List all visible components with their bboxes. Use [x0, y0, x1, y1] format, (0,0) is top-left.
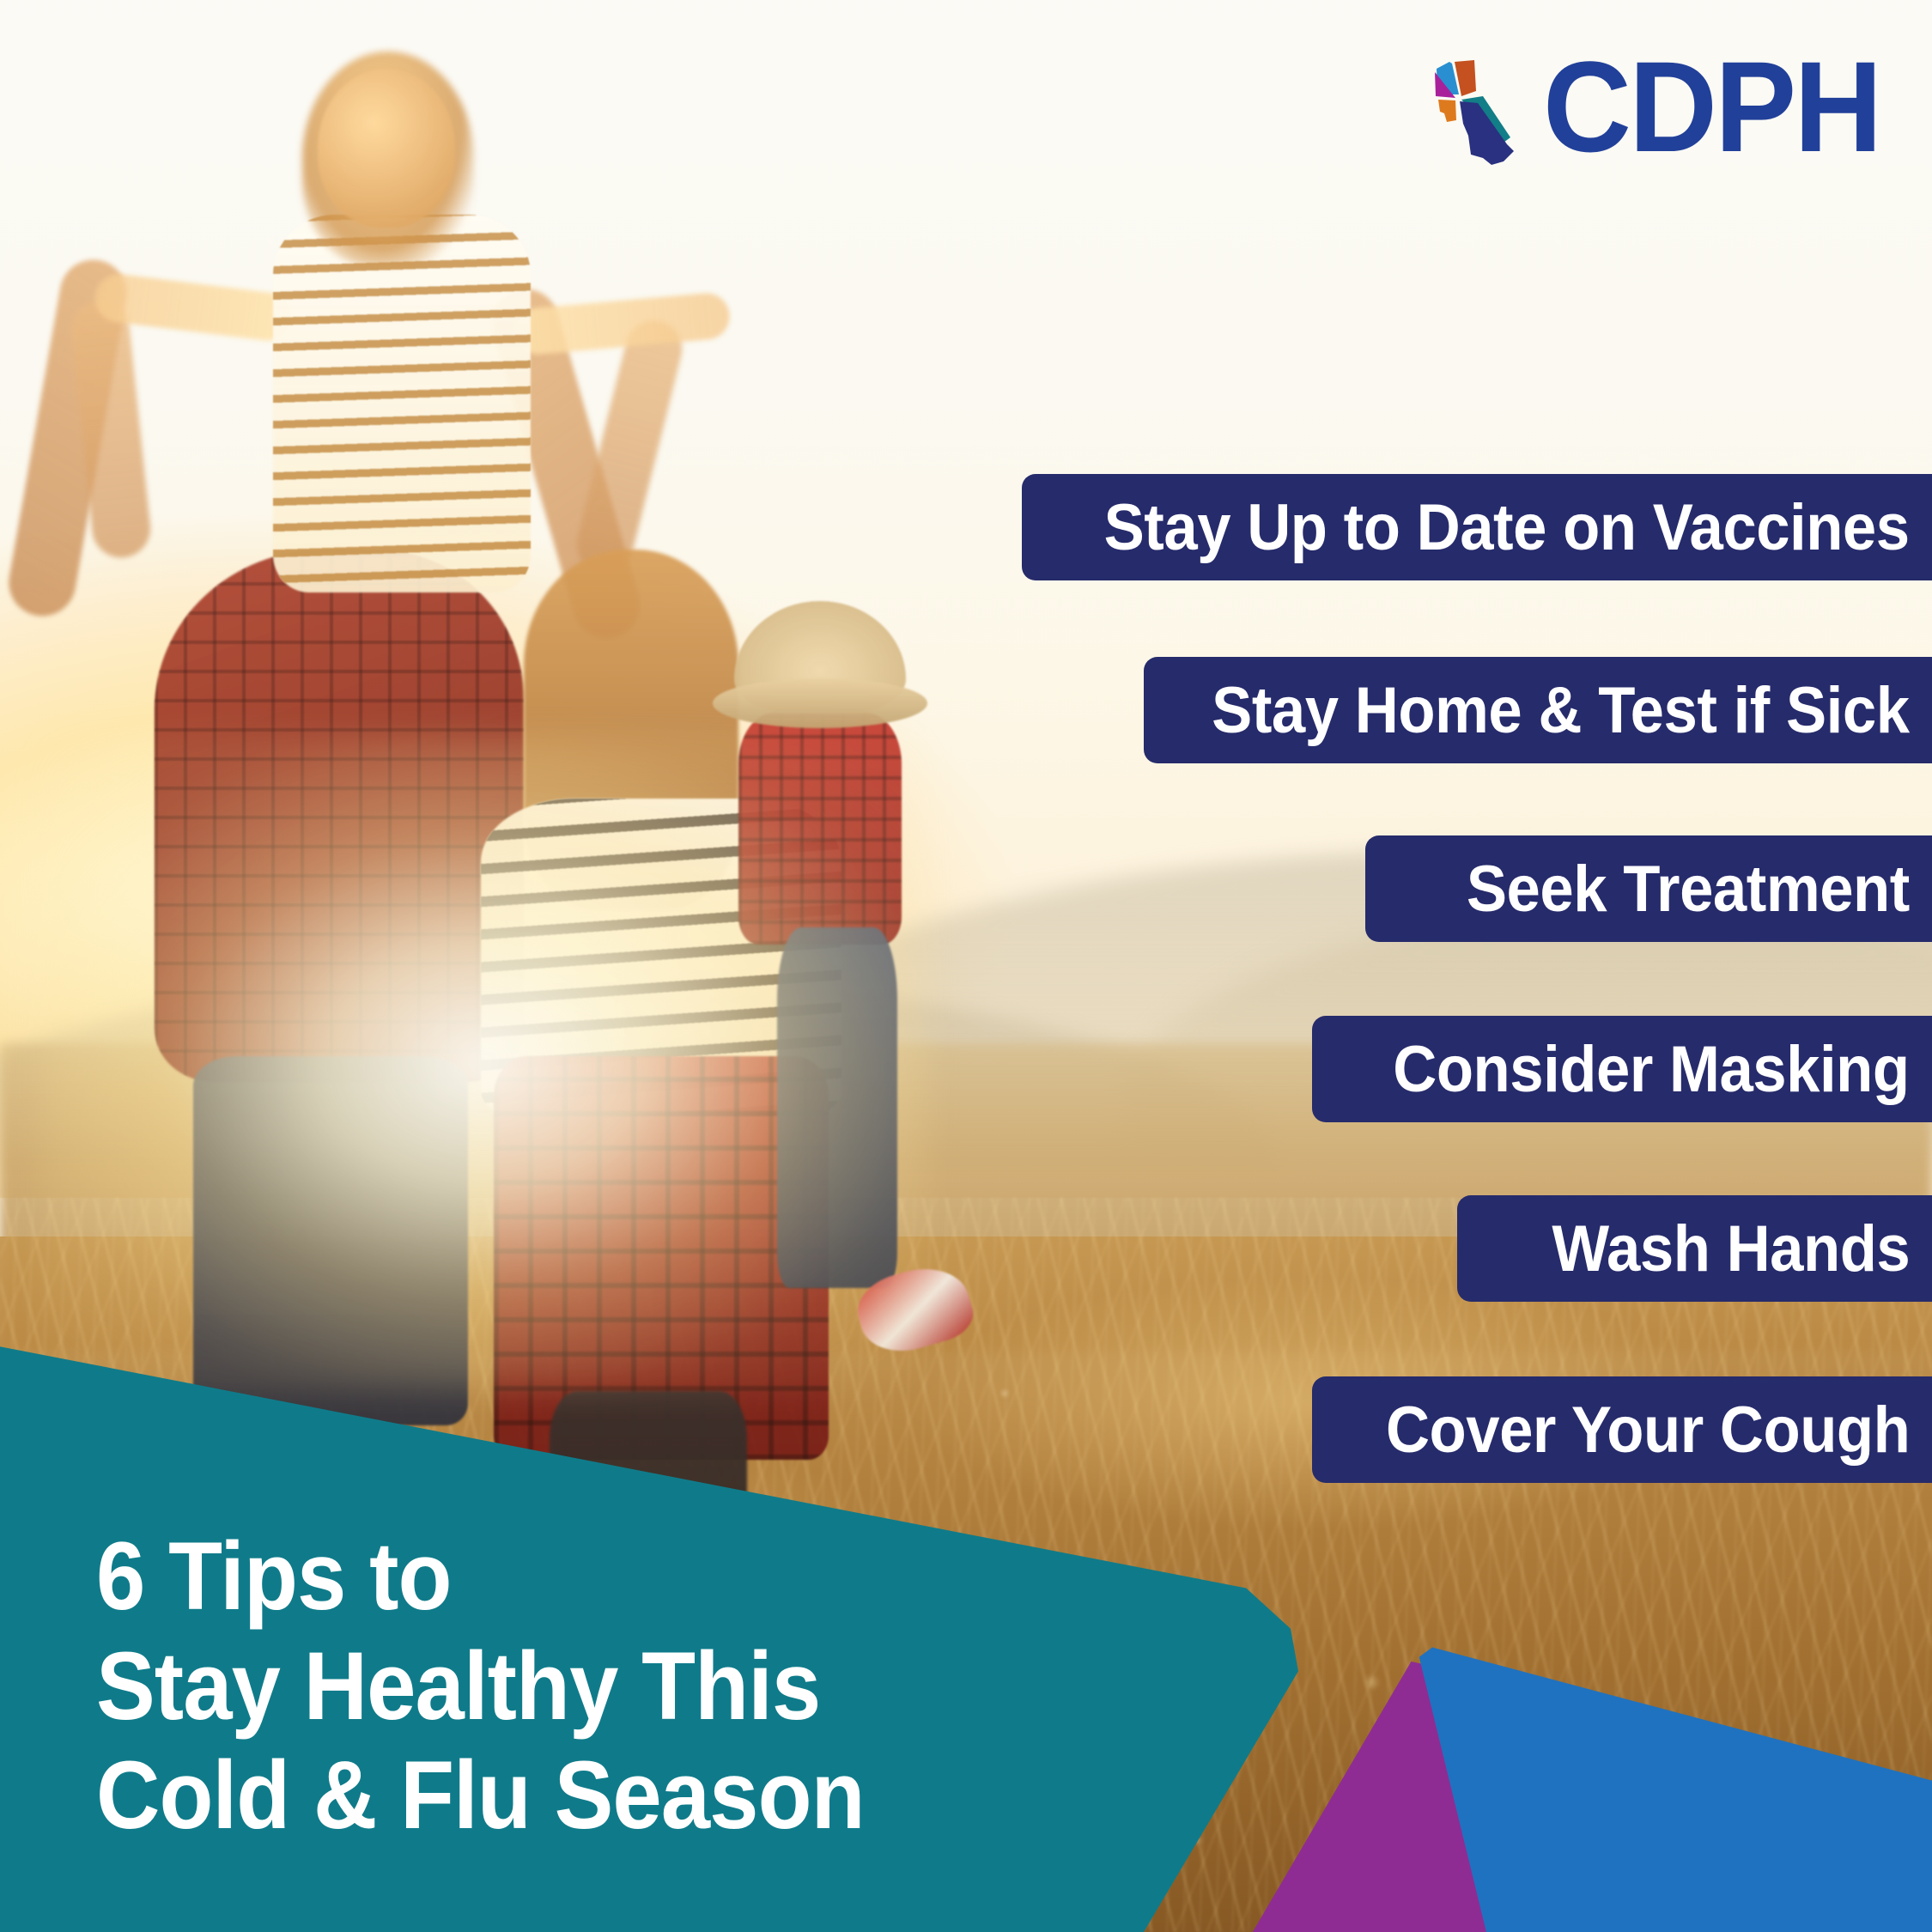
tip-label-6: Cover Your Cough	[1386, 1393, 1910, 1467]
tip-label-1: Stay Up to Date on Vaccines	[1104, 490, 1910, 565]
tip-bar-1[interactable]: Stay Up to Date on Vaccines	[1022, 474, 1932, 580]
poster-canvas: CDPH Stay Up to Date on Vaccines Stay Ho…	[0, 0, 1932, 1932]
page-title: 6 Tips to Stay Healthy This Cold & Flu S…	[96, 1522, 931, 1850]
cdph-wordmark: CDPH	[1543, 42, 1880, 171]
tip-label-5: Wash Hands	[1552, 1212, 1910, 1286]
california-state-outline-icon	[1421, 41, 1534, 172]
tip-bar-3[interactable]: Seek Treatment	[1365, 835, 1932, 942]
tip-label-4: Consider Masking	[1394, 1032, 1910, 1107]
sun-flare	[39, 734, 927, 1391]
child-head	[318, 69, 455, 228]
toddler-hat-brim	[713, 678, 927, 728]
headline-line-2: Stay Healthy This	[96, 1631, 865, 1741]
headline-line-3: Cold & Flu Season	[96, 1741, 865, 1850]
tip-bar-4[interactable]: Consider Masking	[1312, 1016, 1932, 1122]
cdph-logo[interactable]: CDPH	[1421, 41, 1898, 172]
tip-label-3: Seek Treatment	[1467, 852, 1910, 927]
tip-label-2: Stay Home & Test if Sick	[1212, 673, 1910, 748]
child-shirt-stripes	[273, 215, 531, 592]
tip-bar-5[interactable]: Wash Hands	[1457, 1195, 1932, 1302]
headline-line-1: 6 Tips to	[96, 1522, 865, 1631]
tip-bar-6[interactable]: Cover Your Cough	[1312, 1376, 1932, 1483]
tip-bar-2[interactable]: Stay Home & Test if Sick	[1144, 657, 1932, 763]
